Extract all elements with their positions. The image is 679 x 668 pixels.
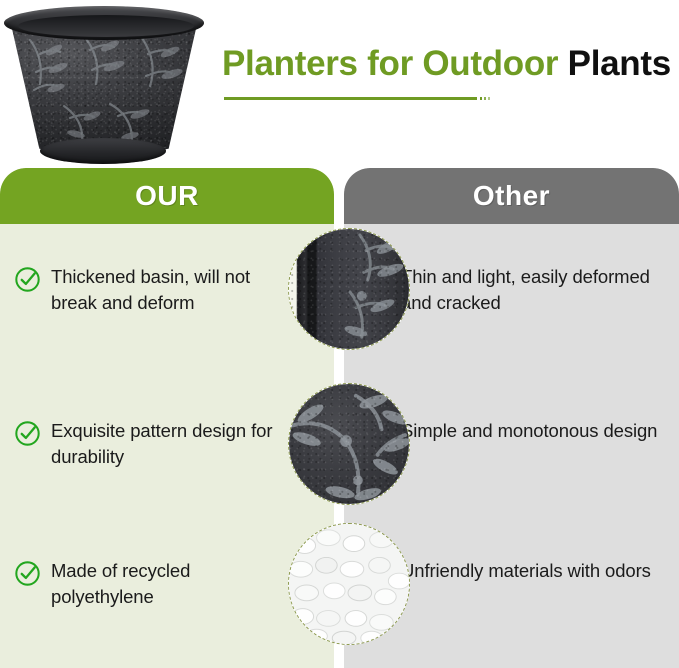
title-underline-dots [480, 97, 492, 100]
panel-our: OUR Thickened basin, will not break and … [0, 168, 334, 668]
panel-other-header: Other [344, 168, 679, 224]
check-circle-icon [14, 266, 41, 293]
our-feature-text-2: Exquisite pattern design for durability [51, 418, 282, 470]
panel-our-heading: OUR [135, 180, 199, 212]
pattern-closeup-leaf-pattern [289, 384, 409, 504]
detail-circle-polyethylene-pellets [288, 523, 410, 645]
other-feature-text-1: Thin and light, easily deformed and crac… [401, 264, 664, 316]
page-title-green: Planters for Outdoor [222, 44, 558, 83]
our-feature-row-3: Made of recycled polyethylene [14, 558, 282, 610]
our-feature-row-1: Thickened basin, will not break and defo… [14, 264, 282, 316]
page-title: Planters for Outdoor Plants [222, 44, 672, 84]
other-feature-text-2: Simple and monotonous design [401, 418, 657, 444]
our-feature-text-1: Thickened basin, will not break and defo… [51, 264, 282, 316]
planter-rim [4, 6, 204, 40]
product-photo-planter [2, 2, 208, 168]
title-underline [224, 97, 477, 100]
our-feature-text-3: Made of recycled polyethylene [51, 558, 282, 610]
planter-saucer [40, 138, 166, 164]
detail-circle-embossed-pattern [288, 383, 410, 505]
check-circle-icon [14, 420, 41, 447]
our-feature-row-2: Exquisite pattern design for durability [14, 418, 282, 470]
pe-pellets-graphic [289, 524, 409, 644]
top-banner: Planters for Outdoor Plants [0, 0, 679, 168]
page-title-dark: Plants [558, 44, 671, 83]
detail-circle-rim-thickness [288, 228, 410, 350]
rim-closeup-leaf-pattern [289, 229, 409, 349]
panel-other-heading: Other [473, 180, 550, 212]
panel-our-header: OUR [0, 168, 334, 224]
other-feature-text-3: Unfriendly materials with odors [401, 558, 651, 584]
check-circle-icon [14, 560, 41, 587]
planter-rim-inner [18, 15, 194, 37]
